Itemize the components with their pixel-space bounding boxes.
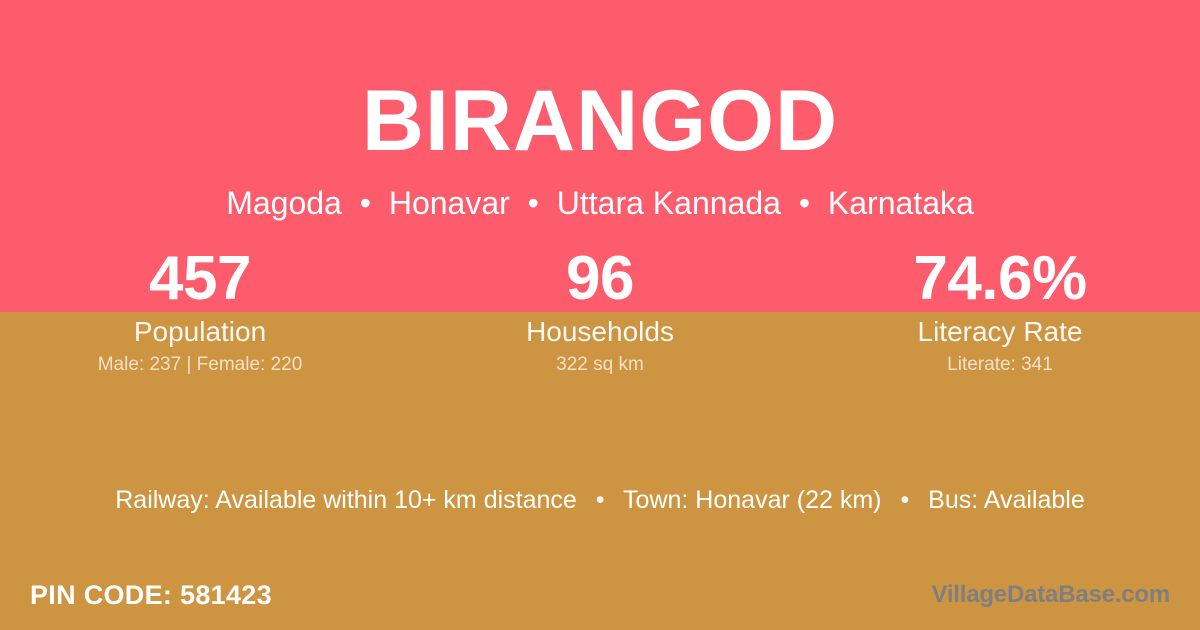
breadcrumb-separator-icon: •: [351, 186, 380, 221]
stat-population-detail: Male: 237 | Female: 220: [0, 353, 400, 377]
transit-separator-icon: •: [888, 483, 921, 517]
stat-households-detail: 322 sq km: [400, 353, 800, 377]
header: BIRANGOD Magoda • Honavar • Uttara Kanna…: [0, 0, 1200, 221]
breadcrumb-item-district: Uttara Kannada: [557, 185, 781, 221]
transit-separator-icon: •: [584, 483, 617, 517]
transit-railway: Railway: Available within 10+ km distanc…: [115, 486, 577, 514]
breadcrumb-item-taluk: Honavar: [389, 185, 510, 221]
stat-literacy-value: 74.6%: [800, 246, 1200, 312]
village-info-card: BIRANGOD Magoda • Honavar • Uttara Kanna…: [0, 0, 1200, 630]
stat-literacy-detail: Literate: 341: [800, 353, 1200, 377]
page-title: BIRANGOD: [0, 78, 1200, 164]
pin-code: PIN CODE: 581423: [30, 579, 272, 611]
breadcrumb-item-village: Magoda: [226, 185, 342, 221]
brand-logo: VillageDataBase.com: [931, 580, 1170, 610]
transit-town: Town: Honavar (22 km): [623, 486, 881, 514]
stat-households-label: Households: [400, 315, 800, 349]
transit-bus: Bus: Available: [928, 486, 1085, 514]
breadcrumb-separator-icon: •: [519, 186, 548, 221]
stat-population-label: Population: [0, 315, 400, 349]
stat-literacy: 74.6% Literacy Rate Literate: 341: [800, 246, 1200, 377]
stat-households: 96 Households 322 sq km: [400, 246, 800, 377]
breadcrumb-separator-icon: •: [790, 186, 819, 221]
footer: PIN CODE: 581423 VillageDataBase.com: [0, 560, 1200, 630]
connectivity-line: Railway: Available within 10+ km distanc…: [0, 483, 1200, 517]
breadcrumb-item-state: Karnataka: [828, 185, 974, 221]
stat-population-value: 457: [0, 246, 400, 312]
stats-row: 457 Population Male: 237 | Female: 220 9…: [0, 246, 1200, 377]
stat-population: 457 Population Male: 237 | Female: 220: [0, 246, 400, 377]
stat-literacy-label: Literacy Rate: [800, 315, 1200, 349]
stat-households-value: 96: [400, 246, 800, 312]
breadcrumb: Magoda • Honavar • Uttara Kannada • Karn…: [0, 186, 1200, 221]
